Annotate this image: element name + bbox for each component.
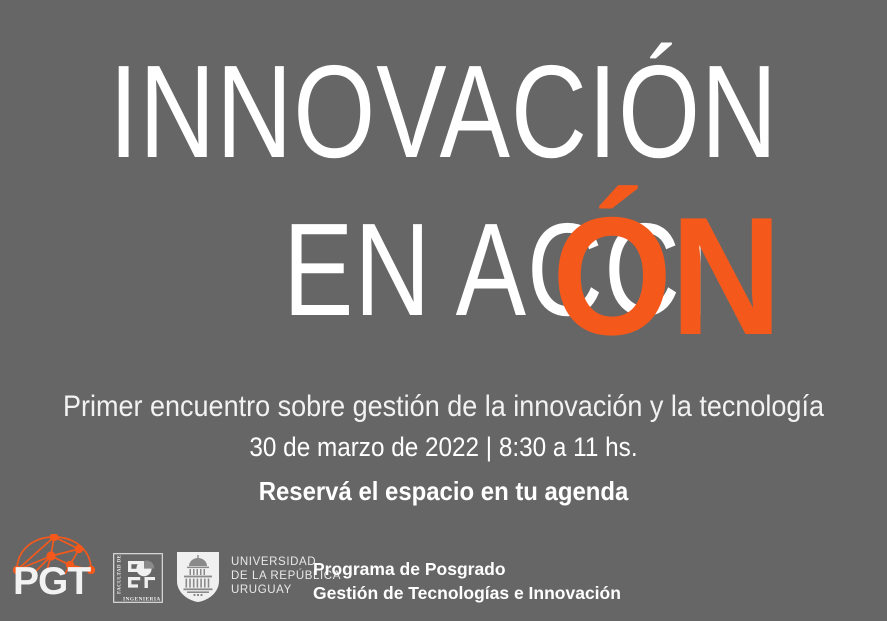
program-line-2: Gestión de Tecnologías e Innovación	[313, 581, 621, 605]
event-tagline: Primer encuentro sobre gestión de la inn…	[44, 388, 842, 426]
footer-block: PGT FACULTAD DE	[0, 527, 887, 621]
udelar-logo	[176, 551, 220, 603]
program-text-block: Programa de Posgrado Gestión de Tecnolog…	[313, 557, 621, 605]
program-line-1: Programa de Posgrado	[313, 557, 621, 581]
udelar-shield-building-icon	[176, 551, 220, 603]
fing-logo: FACULTAD DE INGENIERIA	[113, 553, 163, 603]
event-datetime: 30 de marzo de 2022 | 8:30 a 11 hs.	[44, 429, 842, 465]
pgt-wordmark: PGT	[13, 562, 95, 601]
pgt-logo: PGT	[13, 534, 95, 602]
headline-line-1: INNOVACIÓN	[89, 46, 799, 178]
svg-text:FACULTAD DE: FACULTAD DE	[117, 554, 123, 594]
subtitle-block: Primer encuentro sobre gestión de la inn…	[0, 388, 887, 508]
headline-line-2-orange: ÓN	[552, 192, 780, 360]
headline-block: INNOVACIÓN EN ACCI ÓN	[0, 0, 887, 370]
fing-geometric-mark-icon: FACULTAD DE INGENIERIA	[113, 553, 163, 603]
poster-canvas: INNOVACIÓN EN ACCI ÓN Primer encuentro s…	[0, 0, 887, 621]
logo-row: PGT FACULTAD DE	[13, 527, 341, 621]
headline-line-2-wrapper: EN ACCI ÓN	[0, 204, 887, 364]
svg-text:INGENIERIA: INGENIERIA	[123, 596, 161, 602]
event-call-to-action: Reservá el espacio en tu agenda	[35, 474, 851, 508]
